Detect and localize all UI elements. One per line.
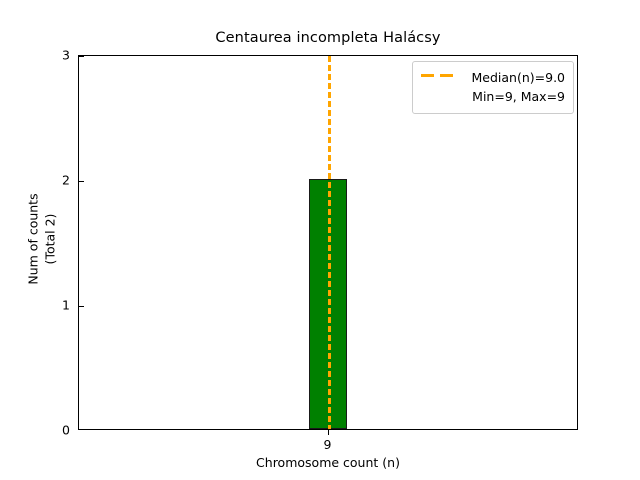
y-tick-label-1: 1 <box>62 298 70 313</box>
chart-figure: Centaurea incompleta Halácsy 0 1 2 3 Num… <box>0 0 640 480</box>
x-axis-title: Chromosome count (n) <box>78 455 578 470</box>
legend-dash-sample-icon <box>421 68 455 83</box>
legend[interactable]: Median(n)=9.0 Min=9, Max=9 <box>412 61 574 114</box>
y-axis-title-line2: (Total 2) <box>42 52 59 427</box>
y-axis-title-line1: Num of counts <box>26 193 41 284</box>
y-tick-label-3: 3 <box>62 48 70 63</box>
y-tick-mark-2 <box>79 181 84 182</box>
plot-area: Median(n)=9.0 Min=9, Max=9 <box>78 55 578 430</box>
y-tick-mark-1 <box>79 306 84 307</box>
y-axis-title: Num of counts (Total 2) <box>25 52 59 427</box>
y-tick-label-0: 0 <box>62 423 70 438</box>
median-line <box>328 56 331 430</box>
x-tick-mark-9 <box>328 430 329 435</box>
legend-range-label: Min=9, Max=9 <box>472 89 565 104</box>
legend-median-label: Median(n)=9.0 <box>472 70 566 85</box>
y-tick-label-2: 2 <box>62 173 70 188</box>
chart-title: Centaurea incompleta Halácsy <box>78 30 578 46</box>
x-tick-label-9: 9 <box>324 437 332 452</box>
y-tick-mark-3 <box>79 56 84 57</box>
legend-entry-text: Median(n)=9.0 Min=9, Max=9 <box>464 68 565 106</box>
